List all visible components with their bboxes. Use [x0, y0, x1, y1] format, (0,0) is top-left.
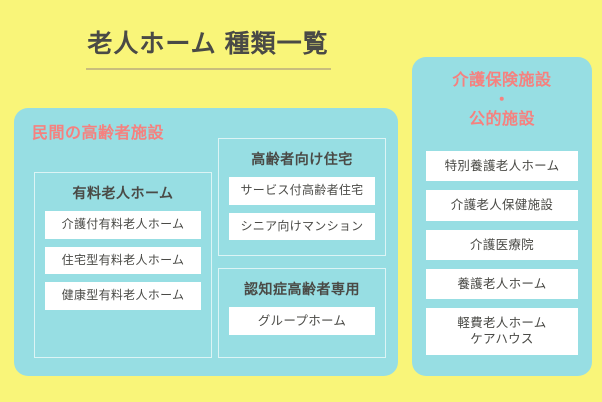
page-title: 老人ホーム 種類一覧 [78, 30, 338, 59]
page-title-block: 老人ホーム 種類一覧 [78, 30, 338, 70]
title-underline [86, 68, 331, 70]
list-item[interactable]: 軽費老人ホームケアハウス [426, 308, 578, 355]
group-title: 有料老人ホーム [45, 183, 201, 203]
panel-private-facilities: 民間の高齢者施設 有料老人ホーム 介護付有料老人ホーム 住宅型有料老人ホーム 健… [14, 108, 398, 376]
panel-public-heading-separator: ・ [412, 91, 592, 111]
list-item[interactable]: サービス付高齢者住宅 [229, 177, 375, 205]
panel-public-heading-line2: 公的施設 [412, 110, 592, 130]
group-title: 認知症高齢者専用 [229, 279, 375, 299]
list-item[interactable]: 介護医療院 [426, 230, 578, 260]
list-item[interactable]: 養護老人ホーム [426, 269, 578, 299]
list-item[interactable]: 特別養護老人ホーム [426, 151, 578, 181]
panel-private-heading: 民間の高齢者施設 [32, 124, 164, 144]
list-item[interactable]: 健康型有料老人ホーム [45, 282, 201, 310]
infographic-canvas: 老人ホーム 種類一覧 民間の高齢者施設 有料老人ホーム 介護付有料老人ホーム 住… [0, 0, 602, 402]
list-item[interactable]: シニア向けマンション [229, 213, 375, 241]
list-item[interactable]: グループホーム [229, 307, 375, 335]
group-dementia-dedicated: 認知症高齢者専用 グループホーム [218, 268, 386, 358]
panel-public-heading-line1: 介護保険施設 [412, 71, 592, 91]
group-paid-nursing-home: 有料老人ホーム 介護付有料老人ホーム 住宅型有料老人ホーム 健康型有料老人ホーム [34, 172, 212, 358]
list-item[interactable]: 介護老人保健施設 [426, 190, 578, 220]
group-senior-housing: 高齢者向け住宅 サービス付高齢者住宅 シニア向けマンション [218, 138, 386, 256]
panel-public-heading: 介護保険施設 ・ 公的施設 [412, 71, 592, 130]
group-title: 高齢者向け住宅 [229, 149, 375, 169]
public-facility-list: 特別養護老人ホーム 介護老人保健施設 介護医療院 養護老人ホーム 軽費老人ホーム… [426, 151, 578, 364]
panel-public-facilities: 介護保険施設 ・ 公的施設 特別養護老人ホーム 介護老人保健施設 介護医療院 養… [412, 57, 592, 376]
list-item[interactable]: 介護付有料老人ホーム [45, 211, 201, 239]
list-item[interactable]: 住宅型有料老人ホーム [45, 247, 201, 275]
